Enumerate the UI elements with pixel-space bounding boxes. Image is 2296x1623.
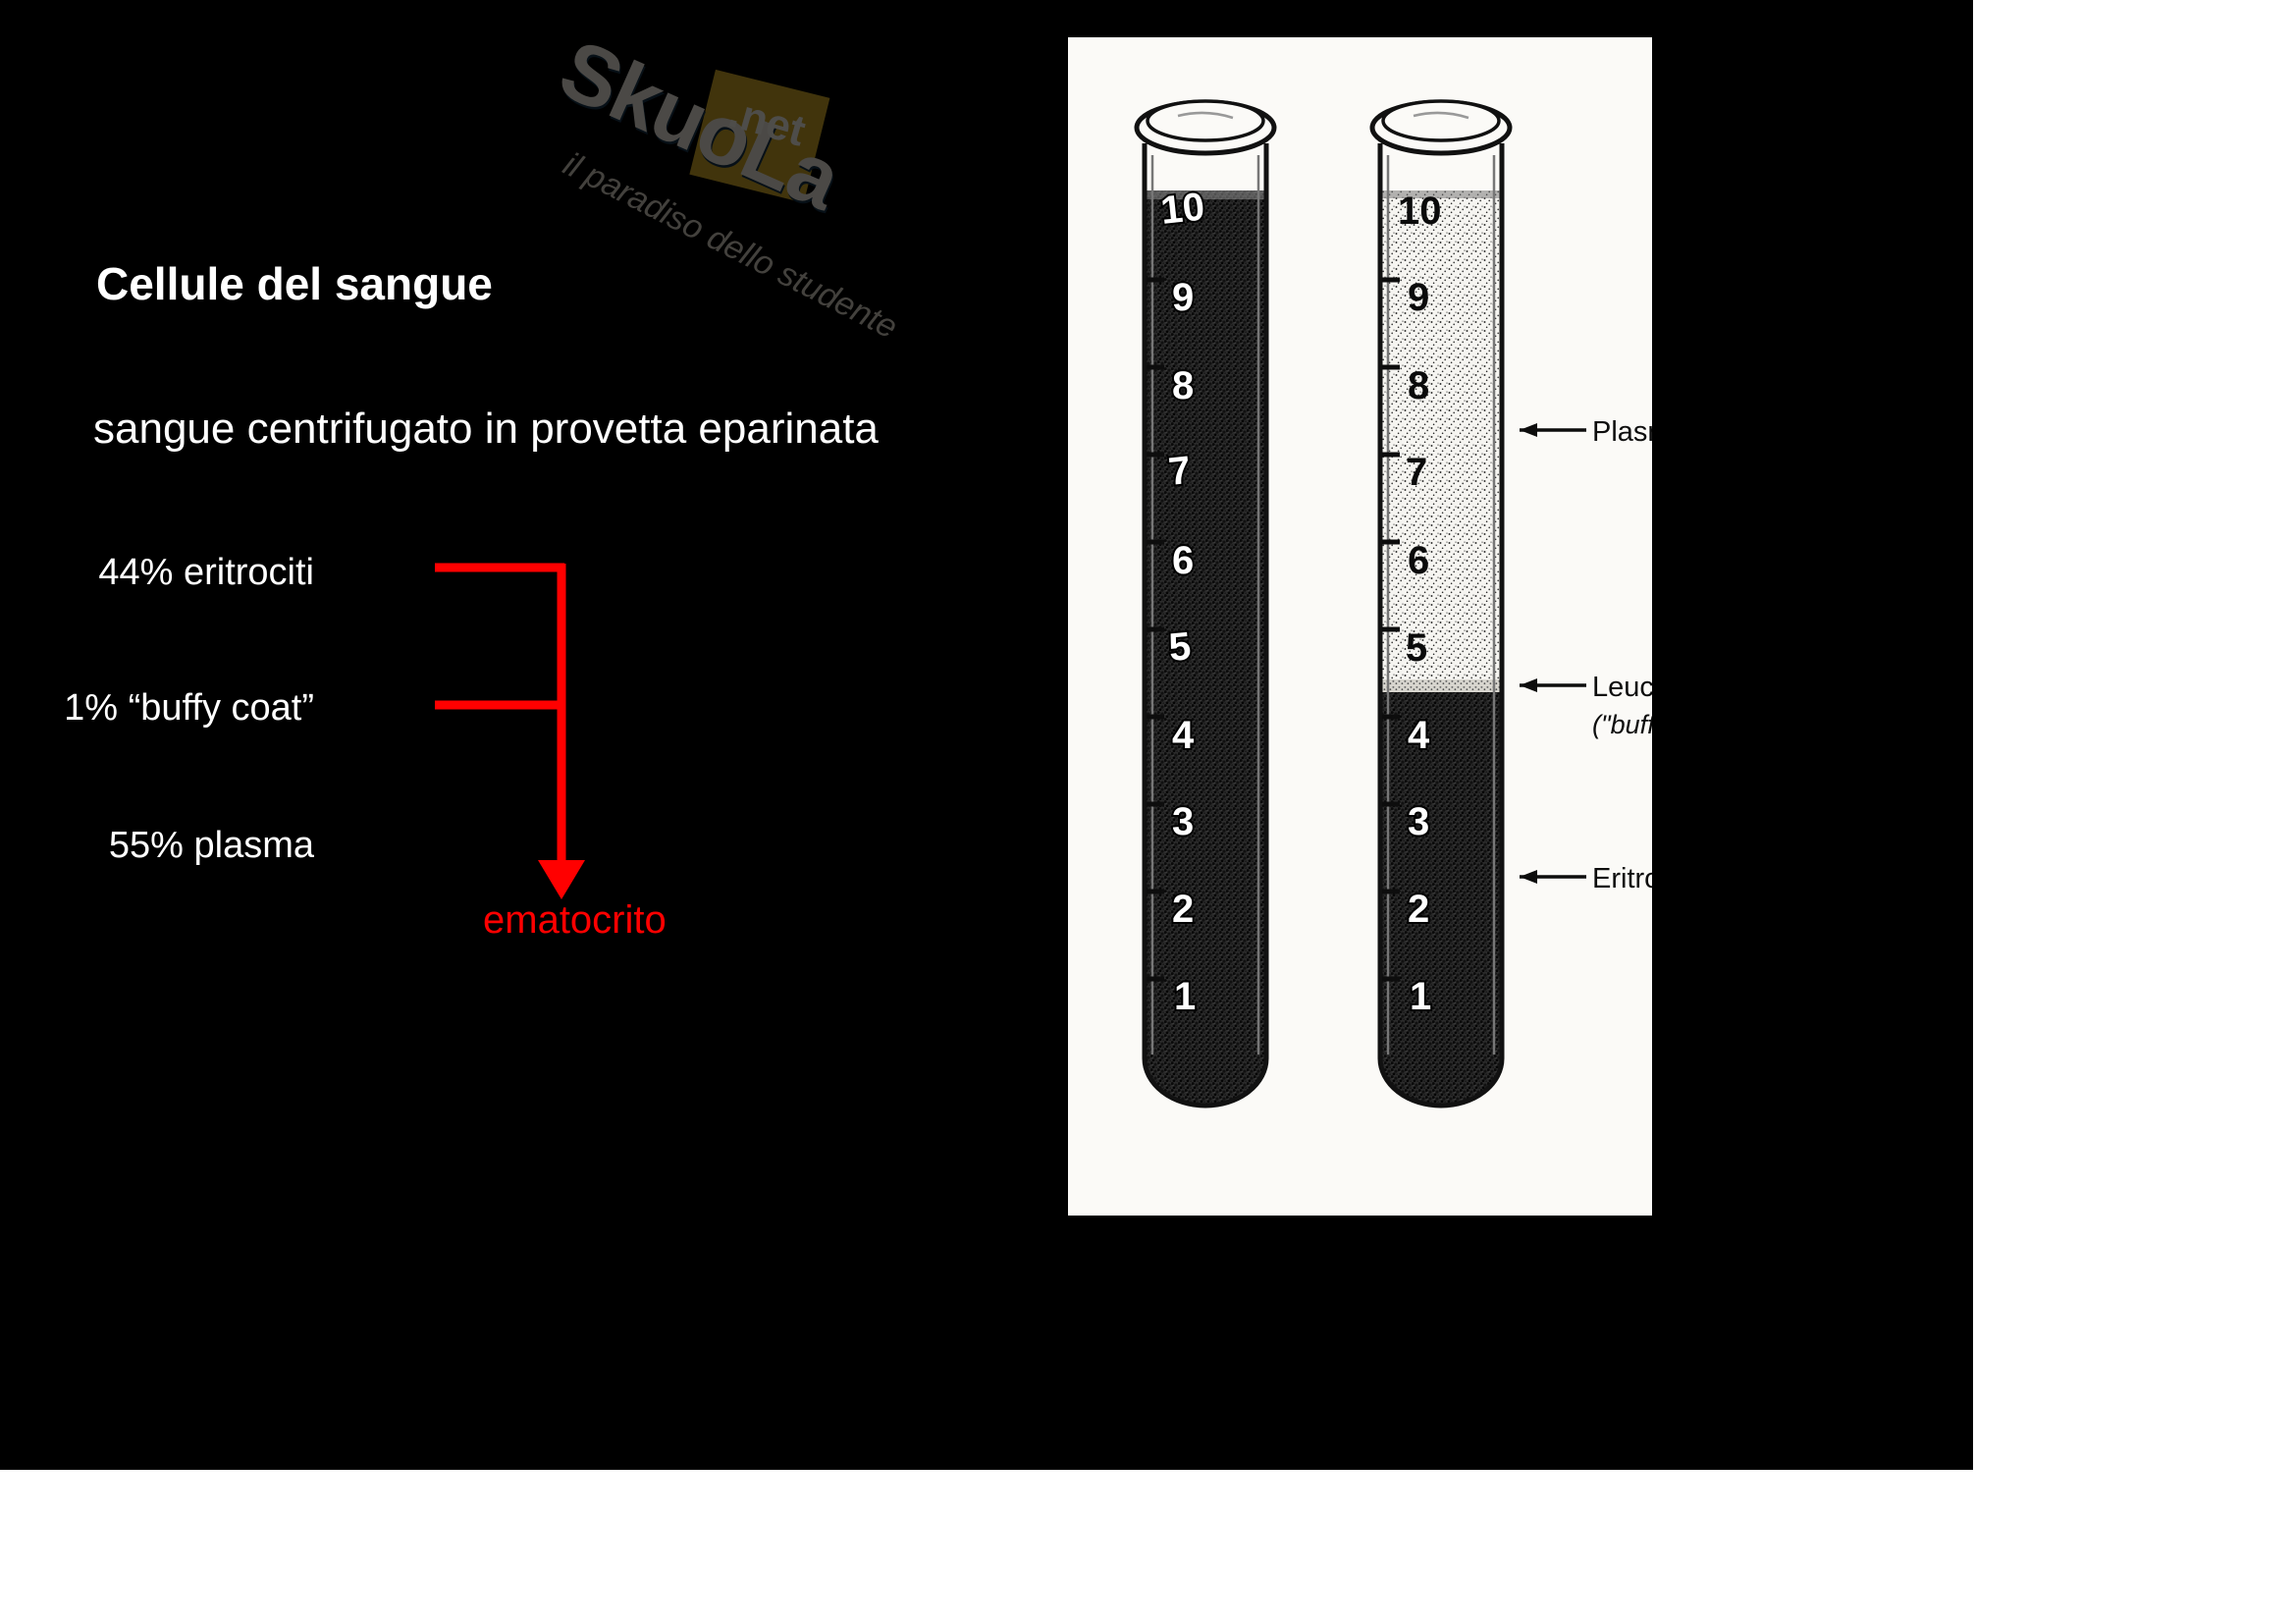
layer-plasma bbox=[1380, 190, 1502, 679]
svg-text:5: 5 bbox=[1167, 624, 1193, 670]
svg-text:10: 10 bbox=[1398, 189, 1442, 233]
svg-text:2: 2 bbox=[1408, 888, 1429, 931]
svg-text:8: 8 bbox=[1172, 364, 1194, 407]
watermark-badge-shape bbox=[689, 70, 829, 203]
svg-text:8: 8 bbox=[1408, 364, 1429, 407]
watermark-logo-text: SkuoLa bbox=[546, 21, 853, 229]
test-tube-figure: 10 9 8 7 6 5 4 3 2 1 bbox=[1068, 37, 1652, 1216]
svg-text:2: 2 bbox=[1172, 888, 1194, 931]
plasma-label: Plasma bbox=[1592, 416, 1652, 448]
fraction-item-plasma: 55% plasma bbox=[0, 825, 314, 867]
svg-text:3: 3 bbox=[1172, 800, 1194, 843]
svg-text:10: 10 bbox=[1158, 186, 1206, 233]
svg-text:4: 4 bbox=[1172, 714, 1195, 757]
hematocrit-bracket bbox=[0, 0, 1973, 1470]
tube-uncentrifuged: 10 9 8 7 6 5 4 3 2 1 bbox=[1137, 101, 1274, 1109]
tube-rim-inner bbox=[1148, 101, 1263, 140]
watermark-net-text: .net bbox=[723, 88, 811, 157]
svg-text:3: 3 bbox=[1408, 800, 1429, 843]
svg-text:5: 5 bbox=[1406, 626, 1427, 670]
layer-whole-blood bbox=[1145, 190, 1266, 1109]
svg-text:6: 6 bbox=[1172, 539, 1194, 582]
fraction-item-buffy-coat: 1% “buffy coat” bbox=[0, 687, 314, 730]
slide-root: SkuoLa .net il paradiso dello studente C… bbox=[0, 0, 2296, 1623]
skuola-watermark: SkuoLa .net il paradiso dello studente bbox=[442, 3, 1060, 552]
fraction-item-eritrociti: 44% eritrociti bbox=[0, 552, 314, 594]
svg-text:6: 6 bbox=[1408, 539, 1429, 582]
slide-canvas: SkuoLa .net il paradiso dello studente C… bbox=[0, 0, 1973, 1470]
leucociti-label: Leucociti bbox=[1592, 672, 1652, 703]
tube-rim-inner bbox=[1383, 101, 1499, 140]
page-subtitle: sangue centrifugato in provetta eparinat… bbox=[93, 405, 879, 454]
tube-centrifuged: 10 9 8 7 6 5 4 3 2 1 bbox=[1372, 101, 1510, 1109]
svg-text:7: 7 bbox=[1166, 449, 1193, 494]
layer-buffy-coat bbox=[1380, 679, 1502, 692]
watermark-tagline: il paradiso dello studente bbox=[557, 145, 903, 348]
eritrociti-label: Eritrociti bbox=[1592, 863, 1652, 894]
test-tube-diagram: 10 9 8 7 6 5 4 3 2 1 bbox=[1068, 37, 1652, 1216]
leucociti-sublabel: ("buffy coat") bbox=[1592, 710, 1652, 739]
bracket-arrowhead bbox=[538, 860, 585, 899]
svg-text:1: 1 bbox=[1174, 975, 1196, 1018]
svg-text:9: 9 bbox=[1408, 276, 1429, 319]
svg-text:7: 7 bbox=[1406, 451, 1427, 494]
layer-erythrocytes bbox=[1380, 692, 1502, 1109]
svg-text:9: 9 bbox=[1172, 276, 1194, 319]
svg-text:4: 4 bbox=[1408, 714, 1430, 757]
hematocrit-label: ematocrito bbox=[483, 898, 667, 943]
svg-text:1: 1 bbox=[1410, 975, 1431, 1018]
page-title: Cellule del sangue bbox=[96, 257, 493, 310]
